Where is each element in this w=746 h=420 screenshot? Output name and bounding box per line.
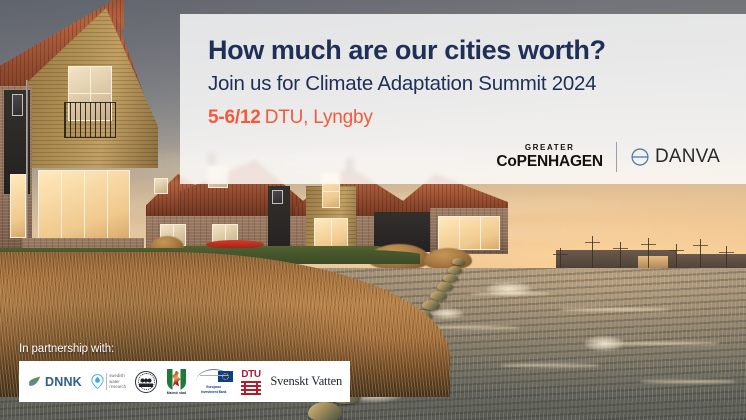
facade-window-dark [272, 190, 283, 204]
danva-logo[interactable]: DANVA [630, 146, 720, 168]
page-title: How much are our cities worth? [208, 36, 746, 64]
sandbag [448, 266, 462, 274]
ground-floor-glazing [38, 170, 130, 240]
event-venue: DTU, Lyngby [265, 107, 373, 128]
eib-wordmark: European Investment Bank [201, 385, 227, 393]
swedish-water-research-wordmark: swedish water research [106, 373, 126, 391]
malmo-wordmark: Malmö stad [167, 391, 187, 395]
partner-logo-strip: DNNK swedish water research [19, 361, 350, 402]
dnnk-leaf-icon [27, 374, 42, 389]
dtu-bars-icon [241, 381, 261, 395]
svenskt-vatten-wordmark: Svenskt Vatten [270, 374, 342, 389]
swr-line-1: swedish [109, 373, 126, 379]
swr-line-3: research [109, 384, 126, 390]
small-side-window [12, 94, 23, 116]
greater-copenhagen-bottom-line: CoPENHAGEN [496, 154, 603, 170]
dtu-wordmark: DTU [241, 369, 261, 380]
danva-circle-icon [630, 147, 650, 167]
partnership-label: In partnership with: [19, 343, 114, 355]
city-seal-icon [135, 371, 157, 393]
greater-copenhagen-top-line: GREATER [496, 144, 603, 152]
partner-logo-swedish-water-research[interactable]: swedish water research [91, 373, 126, 391]
headline-panel: How much are our cities worth? Join us f… [180, 14, 746, 184]
balcony-railing [64, 102, 116, 138]
eu-flag [218, 371, 233, 382]
partner-logo-dnnk[interactable]: DNNK [27, 374, 82, 389]
lockup-divider [616, 142, 617, 172]
partner-logo-dtu[interactable]: DTU [241, 369, 261, 395]
partner-logo-city-seal[interactable] [135, 371, 157, 393]
eib-line-2: Investment Bank [201, 390, 227, 394]
eu-stars [222, 373, 229, 380]
danva-wordmark: DANVA [655, 146, 720, 168]
dormer-window [154, 178, 168, 194]
eib-arc-eu-flag-icon [196, 369, 232, 384]
foam-splash [486, 282, 532, 296]
shopfront-glazing [438, 216, 500, 250]
ground-floor-window-left [10, 174, 26, 238]
partner-logo-european-investment-bank[interactable]: European Investment Bank [196, 369, 232, 393]
organiser-logo-lockup: GREATER CoPENHAGEN DANVA [496, 142, 720, 172]
wave-crest [640, 380, 736, 383]
partner-logo-malmo-stad[interactable]: Malmö stad [167, 369, 187, 395]
water-drop-pin-icon [91, 374, 104, 389]
subheadline: Join us for Climate Adaptation Summit 20… [208, 73, 746, 96]
campaign-banner: How much are our cities worth? Join us f… [0, 0, 746, 420]
sailboat-mast [648, 238, 649, 272]
sailboat-mast [592, 236, 593, 272]
seal-ring [138, 373, 155, 390]
sandbag [308, 402, 342, 420]
sandbag [452, 258, 465, 265]
foam-splash [584, 336, 624, 351]
partner-logo-svenskt-vatten[interactable]: Svenskt Vatten [270, 374, 342, 389]
malmo-coat-of-arms-icon [167, 369, 186, 390]
wave-crest [500, 364, 600, 367]
wave-crest [560, 308, 670, 311]
dnnk-wordmark: DNNK [45, 375, 82, 389]
event-dateline: 5-6/12DTU, Lyngby [208, 107, 746, 129]
event-date: 5-6/12 [208, 107, 261, 128]
malmo-griffin [172, 371, 181, 387]
greater-copenhagen-logo[interactable]: GREATER CoPENHAGEN [496, 144, 603, 170]
